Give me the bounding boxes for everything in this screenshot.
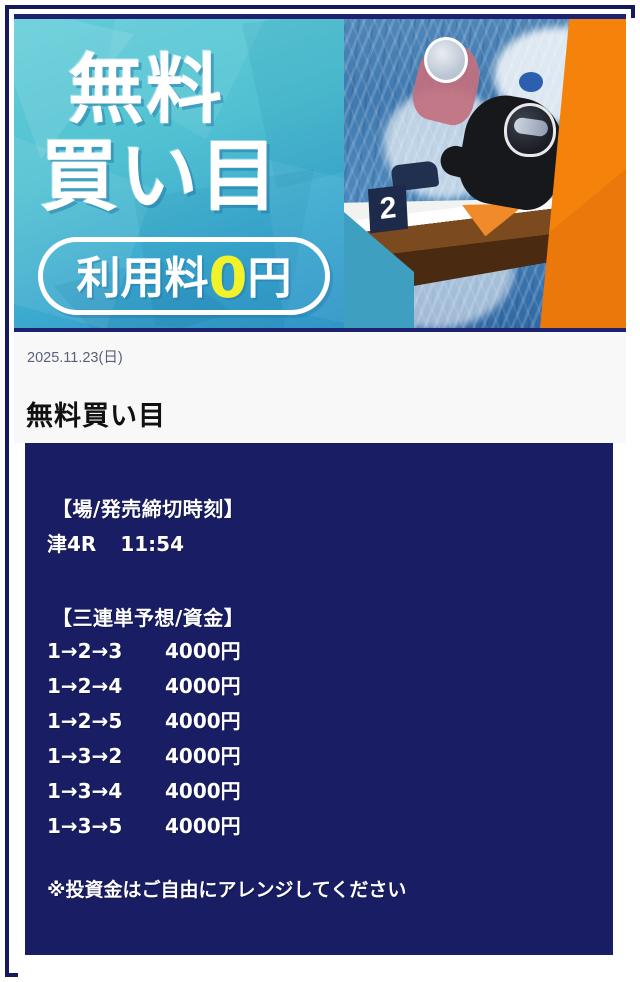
pill-suffix-label: 円 <box>247 253 291 304</box>
bet-amount: 4000円 <box>165 670 241 699</box>
bet-amount: 4000円 <box>165 810 241 839</box>
background-racer-helmet-icon <box>424 37 468 83</box>
banner-headline-group: 無料 買い目 利用料0円 <box>14 19 364 329</box>
pill-zero-label: 0 <box>209 246 248 311</box>
bet-amount: 4000円 <box>165 705 241 734</box>
investment-note: ※投資金はご自由にアレンジしてください <box>47 875 406 902</box>
publish-date: 2025.11.23(日) <box>27 346 123 367</box>
bet-row: 1→3→4 4000円 <box>47 775 587 810</box>
bet-combination: 1→2→5 <box>47 709 165 733</box>
venue-name: 津4R <box>47 532 96 556</box>
boat-race-photo: 2 <box>344 19 626 329</box>
venue-section-title: 【場/発売締切時刻】 <box>52 493 244 522</box>
bet-row: 1→2→3 4000円 <box>47 635 587 670</box>
bet-combination: 1→2→3 <box>47 639 165 663</box>
free-usage-pill: 利用料0円 <box>38 237 330 315</box>
free-usage-pill-text: 利用料0円 <box>77 242 292 311</box>
bet-row: 1→2→5 4000円 <box>47 705 587 740</box>
page-root: 2 無料 買い目 利用料0円 2025.11.23(日) 無料買い目 <box>0 0 640 982</box>
bet-amount: 4000円 <box>165 775 241 804</box>
boat-number-label: 2 <box>368 185 408 234</box>
banner-headline-free: 無料 <box>68 51 224 129</box>
venue-deadline-time: 11:54 <box>120 532 184 556</box>
prediction-panel: 【場/発売締切時刻】 津4R11:54 【三連単予想/資金】 1→2→3 400… <box>25 443 613 955</box>
bet-combination: 1→3→4 <box>47 779 165 803</box>
pill-prefix-label: 利用料 <box>77 253 209 304</box>
page-title: 無料買い目 <box>26 394 166 433</box>
bet-row: 1→2→4 4000円 <box>47 670 587 705</box>
article-header: 2025.11.23(日) 無料買い目 <box>14 332 626 443</box>
bet-combination: 1→3→2 <box>47 744 165 768</box>
helmet-marking <box>519 72 543 92</box>
venue-race-row: 津4R11:54 <box>47 528 184 557</box>
hero-banner-inner: 2 無料 買い目 利用料0円 <box>14 19 626 329</box>
bet-row: 1→3→5 4000円 <box>47 810 587 845</box>
bets-section-title: 【三連単予想/資金】 <box>52 602 244 631</box>
bet-list: 1→2→3 4000円 1→2→4 4000円 1→2→5 4000円 1→3→… <box>47 635 587 845</box>
banner-headline-picks: 買い目 <box>40 137 280 217</box>
bet-combination: 1→2→4 <box>47 674 165 698</box>
bet-row: 1→3→2 4000円 <box>47 740 587 775</box>
bet-amount: 4000円 <box>165 740 241 769</box>
hero-banner: 2 無料 買い目 利用料0円 <box>14 14 626 332</box>
bet-combination: 1→3→5 <box>47 814 165 838</box>
bet-amount: 4000円 <box>165 635 241 664</box>
